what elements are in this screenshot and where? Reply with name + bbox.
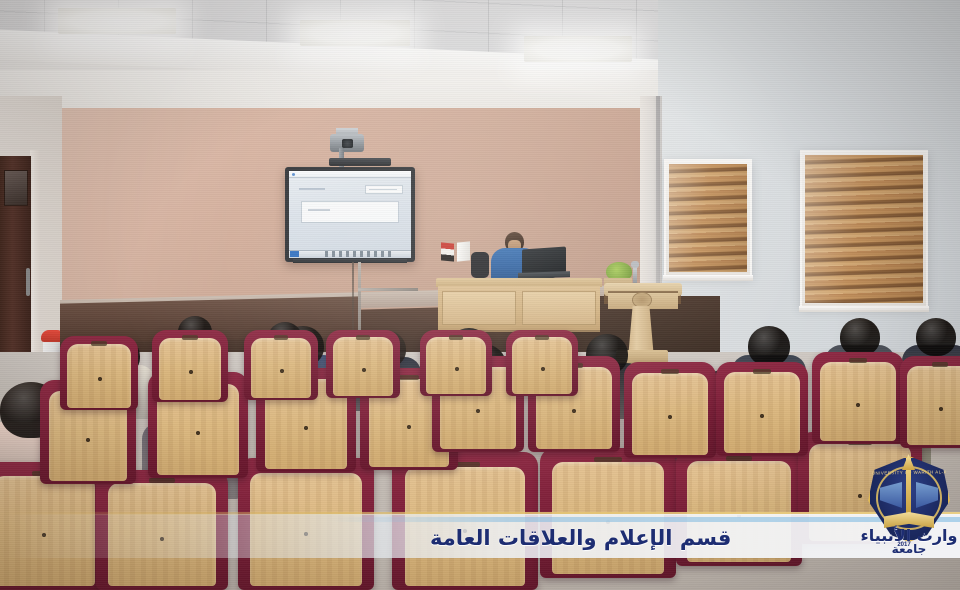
seat-wood-back	[907, 366, 960, 445]
seat-screw	[668, 415, 672, 419]
logo-year-text: 2017	[890, 542, 918, 548]
banner-caption-text: قسم الإعلام والعلاقات العامة	[430, 523, 860, 553]
auditorium-seat[interactable]	[152, 330, 228, 402]
seat-wood-back	[333, 337, 394, 395]
seat-screw	[304, 426, 308, 430]
seat-wood-back	[724, 372, 799, 453]
side-chair-left	[471, 252, 489, 278]
blind-sheen	[805, 155, 923, 303]
seat-screw	[572, 409, 576, 413]
projected-taskbar	[289, 250, 411, 258]
seat-wood-back	[251, 338, 312, 398]
whiteboard-pen-tray	[293, 259, 407, 263]
seat-wood-back	[426, 337, 485, 394]
auditorium-seat[interactable]	[506, 330, 578, 396]
seat-screw	[196, 431, 200, 435]
whiteboard-soundbar	[329, 158, 391, 166]
seat-wood-back	[512, 337, 571, 394]
seat-top-notch	[449, 335, 463, 340]
window-sill-right	[799, 306, 929, 312]
microphone-head-icon	[631, 261, 639, 268]
seat-top-notch	[594, 457, 621, 462]
seat-top-notch	[849, 358, 867, 363]
projected-text-line	[299, 188, 325, 190]
seat-wood-back	[67, 344, 131, 408]
auditorium-seat[interactable]	[420, 330, 492, 396]
seat-top-notch	[726, 456, 751, 461]
auditorium-seat[interactable]	[60, 336, 138, 410]
seat-screw	[541, 367, 545, 371]
white-flag-icon	[457, 241, 470, 261]
door-window-pane	[4, 170, 28, 206]
seat-screw	[362, 368, 366, 372]
university-logo: UNIVERSITY OF WARITH AL-ANBIYAA وارث الأ…	[862, 452, 956, 560]
seat-screw	[760, 414, 764, 418]
auditorium-seat[interactable]	[326, 330, 400, 398]
window-left	[664, 159, 752, 277]
projected-dialog-card	[301, 201, 399, 223]
seat-top-notch	[149, 478, 175, 483]
blind-sheen	[669, 164, 747, 272]
seat-wood-back	[632, 373, 707, 456]
seat-screw	[455, 367, 459, 371]
projected-text-line	[308, 209, 330, 211]
lecture-hall-photograph: قسم الإعلام والعلاقات العامة UNIVERSITY …	[0, 0, 960, 590]
seat-top-notch	[356, 335, 371, 340]
seat-top-notch	[753, 369, 771, 374]
seat-top-notch	[91, 341, 107, 346]
auditorium-seat[interactable]	[624, 362, 716, 458]
auditorium-seat[interactable]	[244, 330, 318, 400]
window-dot-icon	[292, 173, 295, 176]
person-head	[916, 318, 956, 356]
seat-top-notch	[399, 375, 419, 380]
seat-screw	[476, 409, 480, 413]
seat-top-notch	[535, 335, 549, 340]
window-blind-right[interactable]	[805, 155, 923, 303]
projected-window-titlebar	[289, 171, 411, 178]
seat-top-notch	[661, 369, 679, 374]
person-head	[840, 318, 880, 356]
taskbar-icons	[325, 251, 395, 257]
window-blind-left[interactable]	[669, 164, 747, 272]
iraqi-flag-icon	[441, 242, 454, 261]
podium-emblem	[632, 292, 652, 308]
seat-top-notch	[182, 335, 197, 340]
projected-text-line	[369, 189, 397, 190]
seat-wood-back	[159, 338, 221, 400]
projector-lens-icon	[342, 139, 353, 148]
presenter-desk	[438, 286, 600, 332]
door-handle[interactable]	[26, 268, 30, 296]
desk-panel-right	[522, 291, 596, 325]
window-sill-left	[663, 275, 753, 281]
whiteboard-screen-content[interactable]	[289, 171, 411, 258]
seat-screw	[939, 407, 943, 411]
ceiling-light-2	[300, 20, 410, 46]
seat-screw	[86, 438, 90, 442]
ceiling-light-1	[58, 8, 176, 34]
ceiling-light-3	[524, 36, 632, 62]
auditorium-seat[interactable]	[900, 356, 960, 448]
window-right	[800, 150, 928, 308]
seat-screw	[98, 377, 102, 381]
start-button-icon	[290, 251, 299, 257]
seat-screw	[189, 370, 193, 374]
auditorium-seat[interactable]	[812, 352, 904, 444]
seat-top-notch	[932, 362, 948, 367]
auditorium-seat[interactable]	[716, 362, 808, 456]
seat-screw	[407, 425, 411, 429]
desk-panel-left	[442, 291, 516, 325]
whiteboard-cable	[352, 262, 354, 338]
whiteboard-stand-post	[358, 262, 361, 332]
seat-screw	[856, 403, 860, 407]
seat-screw	[280, 369, 284, 373]
whiteboard-stand-rail	[358, 288, 418, 291]
person-head	[748, 326, 790, 366]
seat-wood-back	[820, 362, 895, 441]
seat-top-notch	[274, 335, 289, 340]
